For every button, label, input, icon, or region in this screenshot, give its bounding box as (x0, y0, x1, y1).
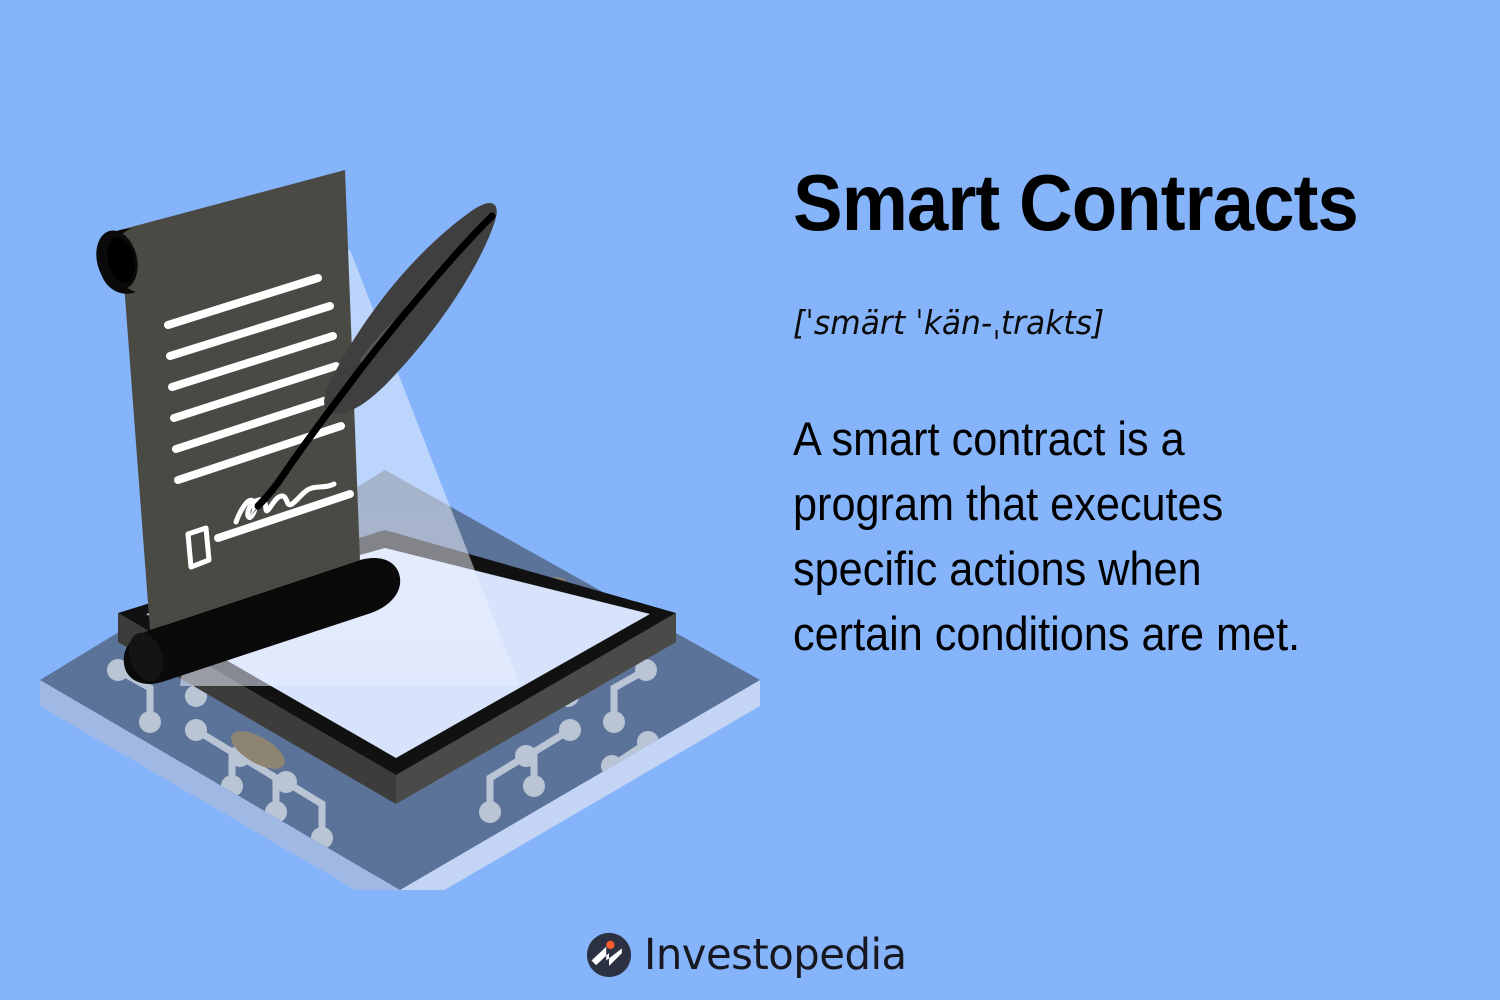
investopedia-logo: Investopedia (0, 932, 1500, 978)
smart-contract-illustration (0, 130, 790, 890)
infographic-canvas: Smart Contracts [ˈsmärt ˈkän-ˌtrakts] A … (0, 0, 1500, 1000)
definition-text: A smart contract is a program that execu… (793, 406, 1308, 666)
page-title: Smart Contracts (793, 160, 1425, 246)
investopedia-mark-icon (586, 932, 632, 978)
investopedia-wordmark: Investopedia (644, 932, 907, 978)
text-column: Smart Contracts [ˈsmärt ˈkän-ˌtrakts] A … (793, 160, 1473, 666)
phonetic-pronunciation: [ˈsmärt ˈkän-ˌtrakts] (793, 302, 1439, 344)
